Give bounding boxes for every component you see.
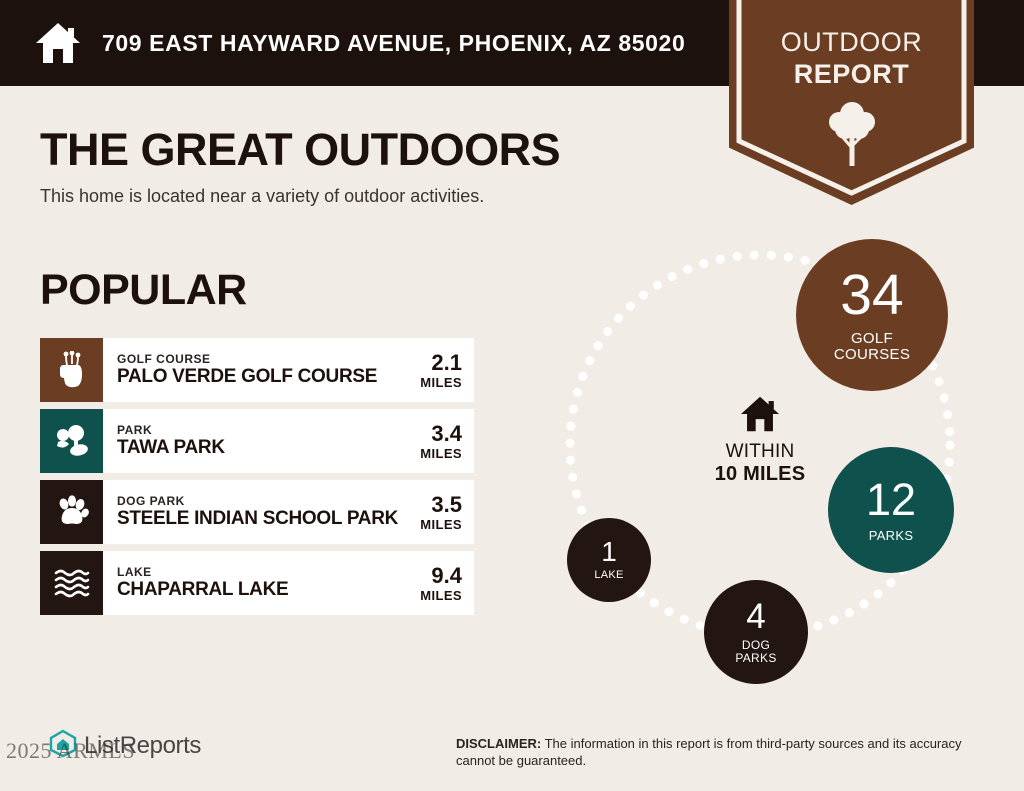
diagram-center: WITHIN 10 MILES [680,395,840,486]
badge-line-1: OUTDOOR [729,26,974,58]
golf-bag-icon [40,338,103,402]
bubble-parks[interactable]: 12 PARKS [828,447,954,573]
distance-value: 2.1 [431,351,462,375]
bubble-label: LAKE [594,570,623,582]
within-10-miles-diagram: WITHIN 10 MILES 34 GOLF COURSES 12 PARKS… [520,225,1010,675]
list-item-category: LAKE [117,565,402,579]
trees-icon [40,409,103,473]
distance-unit: MILES [420,588,462,603]
property-address: 709 EAST HAYWARD AVENUE, PHOENIX, AZ 850… [102,30,685,57]
tree-icon [729,98,974,168]
bubble-lake[interactable]: 1 LAKE [567,518,651,602]
disclaimer-label: DISCLAIMER: [456,736,541,751]
home-icon [680,395,840,433]
list-item-category: PARK [117,423,402,437]
list-item-body: LAKE CHAPARRAL LAKE [103,551,406,615]
center-label-line-1: WITHIN [680,441,840,463]
badge-text-group: OUTDOOR REPORT [729,0,974,205]
list-item[interactable]: GOLF COURSE PALO VERDE GOLF COURSE 2.1 M… [40,338,474,402]
armls-watermark: 2025 ARMLS [6,738,135,764]
distance-unit: MILES [420,446,462,461]
bubble-label-line-1: GOLF [834,331,910,347]
bubble-label-line-2: PARKS [735,652,776,665]
list-item-category: GOLF COURSE [117,352,402,366]
bubble-label-line-2: COURSES [834,347,910,363]
popular-list: GOLF COURSE PALO VERDE GOLF COURSE 2.1 M… [40,338,474,622]
list-item[interactable]: LAKE CHAPARRAL LAKE 9.4 MILES [40,551,474,615]
disclaimer: DISCLAIMER: The information in this repo… [456,735,996,769]
list-item[interactable]: PARK TAWA PARK 3.4 MILES [40,409,474,473]
bubble-count: 4 [746,599,765,634]
list-item-name: TAWA PARK [117,437,402,459]
list-item[interactable]: DOG PARK STEELE INDIAN SCHOOL PARK 3.5 M… [40,480,474,544]
page-title: THE GREAT OUTDOORS [40,124,560,176]
list-item-category: DOG PARK [117,494,402,508]
bubble-count: 12 [866,477,916,522]
list-item-name: STEELE INDIAN SCHOOL PARK [117,508,402,530]
bubble-count: 34 [840,267,903,324]
list-item-name: PALO VERDE GOLF COURSE [117,366,402,388]
paw-icon [40,480,103,544]
bubble-dog-parks[interactable]: 4 DOG PARKS [704,580,808,684]
bubble-count: 1 [601,538,617,566]
list-item-distance: 3.4 MILES [406,409,474,473]
distance-value: 9.4 [431,564,462,588]
list-item-body: PARK TAWA PARK [103,409,406,473]
distance-unit: MILES [420,375,462,390]
list-item-distance: 2.1 MILES [406,338,474,402]
list-item-body: DOG PARK STEELE INDIAN SCHOOL PARK [103,480,406,544]
page-subtitle: This home is located near a variety of o… [40,186,484,207]
list-item-distance: 9.4 MILES [406,551,474,615]
center-label-line-2: 10 MILES [680,463,840,486]
popular-heading: POPULAR [40,266,247,315]
list-item-body: GOLF COURSE PALO VERDE GOLF COURSE [103,338,406,402]
waves-icon [40,551,103,615]
distance-value: 3.5 [431,493,462,517]
list-item-name: CHAPARRAL LAKE [117,579,402,601]
bubble-label: PARKS [869,529,914,543]
home-icon [34,19,82,67]
badge-line-2: REPORT [729,58,974,90]
bubble-golf-courses[interactable]: 34 GOLF COURSES [796,239,948,391]
distance-value: 3.4 [431,422,462,446]
list-item-distance: 3.5 MILES [406,480,474,544]
distance-unit: MILES [420,517,462,532]
